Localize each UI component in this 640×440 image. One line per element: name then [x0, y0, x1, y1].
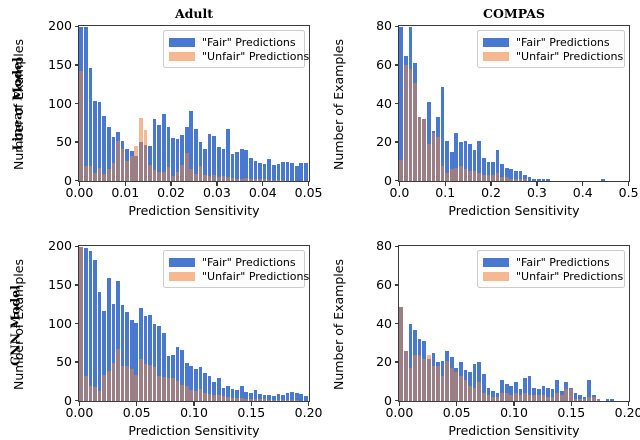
bar — [610, 399, 614, 401]
legend-compas-cnn: "Fair" Predictions"Unfair" Predictions — [477, 250, 625, 288]
x-axis-label: Prediction Sensitivity — [398, 423, 630, 438]
x-tick-mark — [628, 402, 629, 406]
bar-overlap — [399, 307, 403, 401]
legend-item: "Fair" Predictions — [483, 255, 618, 269]
x-tick-mark — [571, 402, 572, 406]
bar-overlap — [597, 399, 601, 401]
bar-overlap — [468, 386, 472, 401]
bar-overlap — [404, 351, 408, 401]
x-tick-label: 0.00 — [374, 407, 424, 420]
bar-overlap — [459, 376, 463, 401]
bar-overlap — [491, 397, 495, 401]
bar-overlap — [546, 397, 550, 401]
x-tick-label: 0.05 — [432, 407, 482, 420]
x-tick-mark — [513, 402, 514, 406]
legend-swatch-unfair-icon — [483, 272, 509, 281]
bar-overlap — [578, 399, 582, 401]
bar — [606, 399, 610, 401]
bar-overlap — [555, 393, 559, 401]
bar-overlap — [587, 397, 591, 401]
bar-overlap — [441, 376, 445, 401]
x-tick-label: 0.15 — [546, 407, 596, 420]
x-tick-label: 0.20 — [604, 407, 640, 420]
y-tick-mark — [395, 400, 399, 401]
y-tick-mark — [395, 361, 399, 362]
bar-overlap — [574, 399, 578, 401]
y-tick-mark — [395, 246, 399, 247]
bar-overlap — [464, 380, 468, 401]
bar-overlap — [418, 355, 422, 401]
bar-overlap — [509, 395, 513, 401]
bar-overlap — [487, 395, 491, 401]
figure-histogram-grid: Adult COMPAS Linear Model CNN Model 0501… — [0, 0, 640, 440]
bar-overlap — [505, 393, 509, 401]
bar-overlap — [477, 382, 481, 401]
bar-overlap — [519, 395, 523, 401]
bar-overlap — [542, 395, 546, 401]
bar-overlap — [432, 366, 436, 401]
bar-overlap — [564, 389, 568, 401]
bar-overlap — [436, 366, 440, 401]
y-tick-label: 80 — [354, 240, 392, 253]
bar-overlap — [454, 372, 458, 401]
bar-overlap — [560, 395, 564, 401]
legend-label: "Fair" Predictions — [516, 256, 610, 269]
legend-item: "Unfair" Predictions — [483, 269, 618, 283]
bar-overlap — [422, 359, 426, 401]
bar-overlap — [427, 359, 431, 401]
y-tick-label: 20 — [354, 356, 392, 369]
bar-overlap — [409, 368, 413, 401]
bar-overlap — [583, 399, 587, 401]
bar-overlap — [450, 368, 454, 401]
x-tick-label: 0.10 — [489, 407, 539, 420]
bar-overlap — [473, 388, 477, 401]
bar-overlap — [569, 389, 573, 401]
bar-overlap — [523, 393, 527, 401]
bar-overlap — [413, 355, 417, 401]
bar-overlap — [592, 397, 596, 401]
bar-overlap — [537, 395, 541, 401]
panel-compas-cnn: 0204060800.000.050.100.150.20Prediction … — [0, 0, 640, 440]
bar-overlap — [482, 393, 486, 401]
bar-overlap — [528, 395, 532, 401]
x-tick-mark — [399, 402, 400, 406]
bar-overlap — [551, 397, 555, 401]
y-tick-mark — [395, 284, 399, 285]
bar-overlap — [532, 395, 536, 401]
legend-label: "Unfair" Predictions — [516, 270, 623, 283]
bar-overlap — [445, 361, 449, 401]
x-tick-mark — [456, 402, 457, 406]
y-tick-label: 60 — [354, 279, 392, 292]
legend-swatch-fair-icon — [483, 258, 509, 267]
y-axis-label: Number of Examples — [331, 246, 346, 403]
y-tick-mark — [395, 323, 399, 324]
bar-overlap — [496, 397, 500, 401]
bar-overlap — [514, 393, 518, 401]
bar-overlap — [500, 393, 504, 401]
y-tick-label: 40 — [354, 318, 392, 331]
